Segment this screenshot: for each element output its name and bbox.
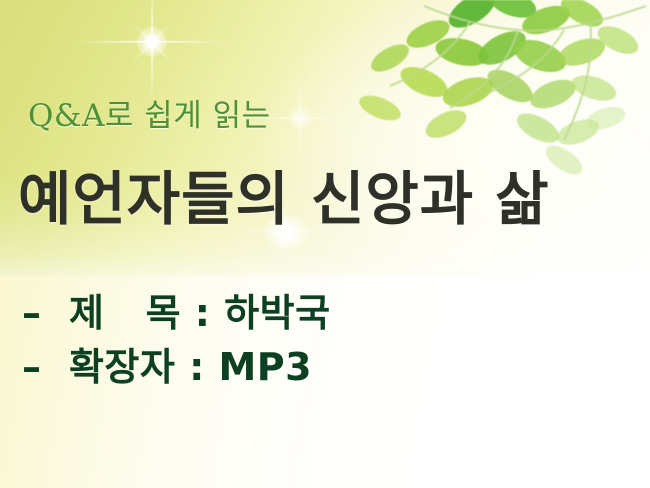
- banner-subtitle: Q&A로 쉽게 읽는: [28, 90, 271, 135]
- title-banner: Q&A로 쉽게 읽는 예언자들의 신앙과 삶: [0, 0, 650, 276]
- info-list: – 제 목 : 하박국 – 확장자 : MP3: [22, 286, 622, 394]
- slide-root: Q&A로 쉽게 읽는 예언자들의 신앙과 삶 – 제 목 : 하박국 – 확장자…: [0, 0, 650, 488]
- info-line-extension: – 확장자 : MP3: [22, 340, 622, 394]
- banner-title: 예언자들의 신앙과 삶: [18, 152, 550, 236]
- info-line-title: – 제 목 : 하박국: [22, 286, 622, 340]
